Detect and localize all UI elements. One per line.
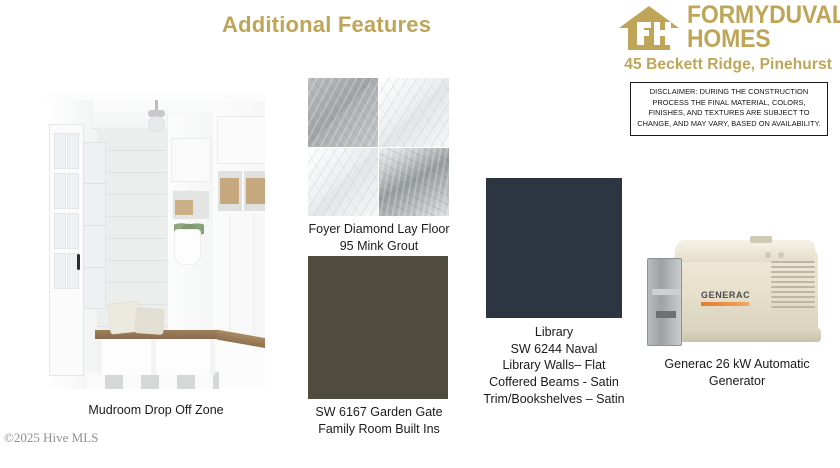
locker-divider-2 [253, 214, 255, 334]
cubby-basket-1 [220, 178, 239, 204]
generac-generator-photo: GENERAC [645, 230, 827, 352]
locker-divider-1 [229, 214, 231, 334]
generator-lid-tab [750, 236, 772, 243]
tile-cell-1 [308, 78, 378, 147]
upper-cabinet-door [171, 138, 211, 182]
mudroom-photo [47, 94, 265, 389]
bench-leg-mid [151, 339, 156, 375]
bench-leg-right [210, 339, 215, 375]
generator-caption-line-2: Generator [640, 373, 834, 390]
logo-wordmark: FORMYDUVAL HOMES [687, 4, 840, 51]
foyer-tile-sample [308, 78, 449, 216]
garden-gate-caption-line-2: Family Room Built Ins [288, 421, 470, 438]
tile-caption-line-1: Foyer Diamond Lay Floor [288, 221, 470, 238]
garden-gate-caption: SW 6167 Garden Gate Family Room Built In… [288, 404, 470, 437]
logo-row: FORMYDUVAL HOMES [618, 4, 832, 51]
cubby-basket-2 [246, 178, 265, 204]
logo-line-2: HOMES [687, 28, 840, 51]
generac-brand-text: GENERAC [701, 290, 750, 300]
generac-accent-stripe [701, 302, 749, 306]
tile-caption: Foyer Diamond Lay Floor 95 Mink Grout [288, 221, 470, 254]
generator-caption: Generac 26 kW Automatic Generator [640, 356, 834, 389]
entry-door [49, 124, 84, 376]
library-caption-line-2: SW 6244 Naval [466, 341, 642, 358]
mls-watermark: ©2025 Hive MLS [4, 430, 98, 446]
library-caption-line-1: Library [466, 324, 642, 341]
niche-basket [175, 200, 193, 215]
library-caption-line-4: Coffered Beams - Satin [466, 374, 642, 391]
mudroom-caption-line-1: Mudroom Drop Off Zone [47, 402, 265, 419]
library-caption: Library SW 6244 Naval Library Walls– Fla… [466, 324, 642, 407]
generator-caption-line-1: Generac 26 kW Automatic [640, 356, 834, 373]
tile-cell-3 [308, 148, 378, 217]
feature-sheet-page: Additional Features FORMYDUVAL HOMES 45 … [0, 0, 840, 468]
transfer-switch-panel [647, 258, 682, 346]
logo-line-1: FORMYDUVAL [687, 4, 840, 27]
company-logo-block: FORMYDUVAL HOMES 45 Beckett Ridge, Pineh… [618, 4, 832, 74]
naval-color-swatch [486, 178, 622, 318]
tile-cell-2 [379, 78, 449, 147]
library-caption-line-3: Library Walls– Flat [466, 357, 642, 374]
generator-base [677, 328, 821, 342]
library-caption-line-5: Trim/Bookshelves – Satin [466, 391, 642, 408]
garden-gate-caption-line-1: SW 6167 Garden Gate [288, 404, 470, 421]
door-handle [77, 254, 80, 270]
tile-caption-line-2: 95 Mink Grout [288, 238, 470, 255]
side-bench-base [219, 340, 265, 389]
disclaimer-box: DISCLAIMER: DURING THE CONSTRUCTION PROC… [630, 82, 828, 136]
tile-cell-4 [379, 148, 449, 217]
property-address: 45 Beckett Ridge, Pinehurst [618, 56, 832, 74]
throw-pillow-2 [134, 307, 165, 335]
pendant-light-globe [148, 116, 165, 132]
page-title: Additional Features [222, 12, 431, 38]
mudroom-caption: Mudroom Drop Off Zone [47, 402, 265, 419]
bench-leg-left [97, 339, 102, 375]
locker-upper-cabinet [217, 116, 265, 164]
bench-base [97, 339, 215, 375]
panel-label [656, 311, 676, 318]
window-sidelite [83, 142, 106, 309]
wall-planter [175, 230, 200, 264]
fh-house-logo-icon [618, 5, 680, 51]
panel-top-bar [652, 289, 681, 295]
garden-gate-color-swatch [308, 256, 448, 399]
generator-vents [771, 258, 815, 324]
